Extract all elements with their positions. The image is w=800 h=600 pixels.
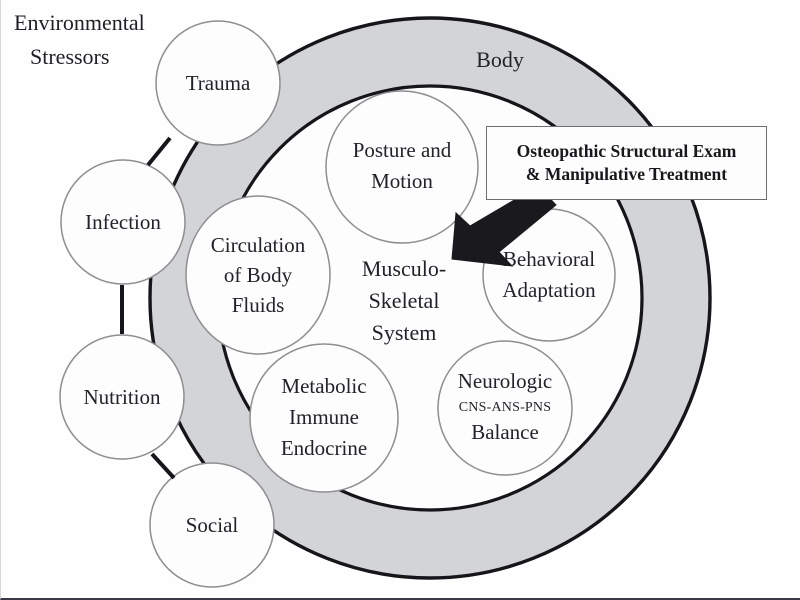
callout-line-2: & Manipulative Treatment — [526, 163, 727, 186]
diagram-canvas: Trauma Infection Nutrition Social Body — [0, 0, 800, 600]
subsystem-circulation-line-3: Fluids — [232, 293, 285, 317]
page-title: Environmental Stressors — [14, 6, 145, 74]
stressor-infection-label: Infection — [85, 210, 161, 234]
stressor-infection[interactable]: Infection — [61, 160, 185, 284]
center-label-line-3: System — [372, 320, 437, 345]
page-title-line-1: Environmental — [14, 10, 145, 35]
subsystem-circulation-line-1: Circulation — [211, 233, 306, 257]
stressor-social[interactable]: Social — [150, 463, 274, 587]
osteopathic-treatment-callout[interactable]: Osteopathic Structural Exam & Manipulati… — [486, 126, 767, 200]
subsystem-metabolic-line-1: Metabolic — [281, 374, 366, 398]
page-title-line-2: Stressors — [14, 40, 145, 74]
subsystem-neurologic-line-1: Neurologic — [458, 369, 552, 393]
subsystem-metabolic-line-2: Immune — [289, 405, 359, 429]
subsystem-behavioral-adaptation-line-2: Adaptation — [502, 278, 596, 302]
body-ring-label: Body — [476, 47, 524, 72]
stressor-trauma[interactable]: Trauma — [156, 21, 280, 145]
subsystem-metabolic-immune-endocrine[interactable]: Metabolic Immune Endocrine — [250, 344, 398, 492]
subsystem-neurologic-line-3: Balance — [471, 420, 539, 444]
subsystem-posture-and-motion-line-1: Posture and — [353, 138, 452, 162]
subsystem-circulation-of-body-fluids[interactable]: Circulation of Body Fluids — [186, 196, 330, 354]
center-label-line-2: Skeletal — [369, 288, 440, 313]
stressor-social-label: Social — [186, 513, 239, 537]
callout-line-1: Osteopathic Structural Exam — [517, 140, 737, 163]
connector-trauma-infection — [148, 138, 170, 165]
center-label-line-1: Musculo- — [362, 256, 446, 281]
subsystem-posture-and-motion-line-2: Motion — [371, 169, 433, 193]
center-musculoskeletal-system: Musculo- Skeletal System — [362, 256, 446, 345]
subsystem-metabolic-line-3: Endocrine — [281, 436, 367, 460]
subsystem-circulation-line-2: of Body — [224, 263, 293, 287]
stressor-nutrition-label: Nutrition — [84, 385, 161, 409]
connector-nutrition-social — [152, 454, 174, 478]
stressor-nutrition[interactable]: Nutrition — [60, 335, 184, 459]
osteopathic-body-model-diagram: Trauma Infection Nutrition Social Body — [0, 0, 800, 600]
subsystem-neurologic-line-2: CNS-ANS-PNS — [459, 400, 551, 415]
subsystem-neurologic-balance[interactable]: Neurologic CNS-ANS-PNS Balance — [438, 341, 572, 475]
stressor-trauma-label: Trauma — [186, 71, 251, 95]
subsystem-behavioral-adaptation-line-1: Behavioral — [503, 247, 595, 271]
